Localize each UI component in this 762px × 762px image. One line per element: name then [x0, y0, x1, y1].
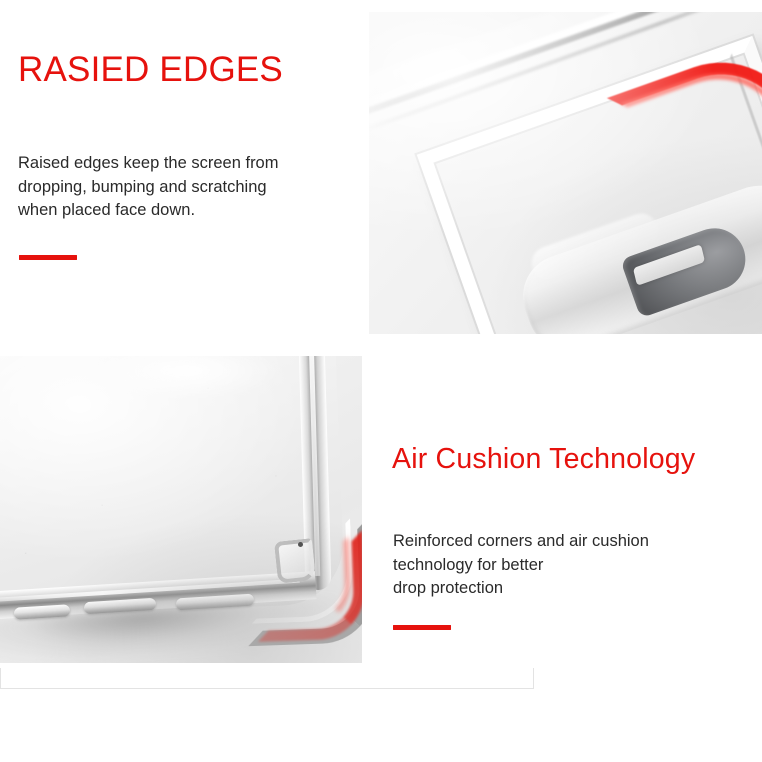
- air-cushion-corner-photo: [0, 356, 362, 663]
- raised-edge-macro-photo: [369, 12, 762, 334]
- air-cushion-accent-rule: [393, 625, 451, 630]
- description-line: technology for better: [393, 554, 723, 578]
- product-feature-page: RASIED EDGES Raised edges keep the scree…: [0, 0, 762, 762]
- section-separator: [0, 668, 534, 689]
- description-line: drop protection: [393, 577, 723, 601]
- photo-vignette: [369, 12, 762, 334]
- raised-edges-description: Raised edges keep the screen from droppi…: [18, 152, 348, 223]
- description-line: when placed face down.: [18, 199, 348, 223]
- raised-edges-heading: RASIED EDGES: [18, 50, 283, 90]
- raised-edges-accent-rule: [19, 255, 77, 260]
- description-line: Raised edges keep the screen from: [18, 152, 348, 176]
- description-line: Reinforced corners and air cushion: [393, 530, 723, 554]
- photo-vignette: [0, 356, 362, 663]
- air-cushion-description: Reinforced corners and air cushion techn…: [393, 530, 723, 601]
- air-cushion-heading: Air Cushion Technology: [392, 442, 695, 476]
- description-line: dropping, bumping and scratching: [18, 176, 348, 200]
